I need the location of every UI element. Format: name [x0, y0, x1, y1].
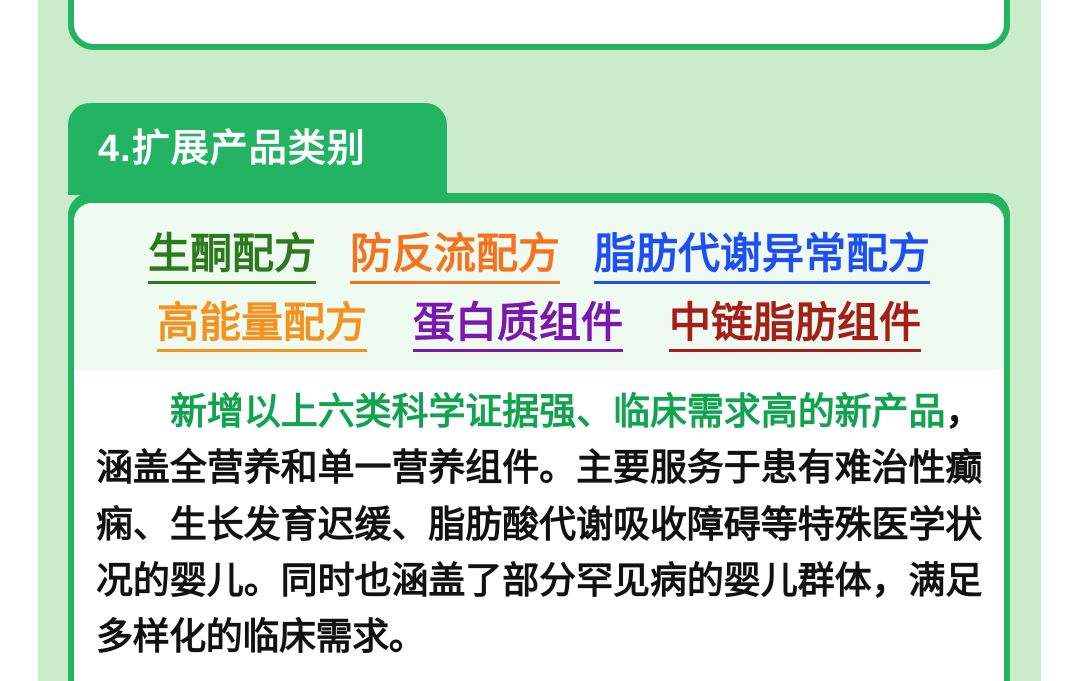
keyword-protein-module[interactable]: 蛋白质组件	[413, 298, 623, 353]
section-description: 新增以上六类科学证据强、临床需求高的新产品，涵盖全营养和单一营养组件。主要服务于…	[74, 370, 1004, 665]
section-tab-title: 4.扩展产品类别	[98, 130, 366, 168]
description-highlight: 新增以上六类科学证据强、临床需求高的新产品	[170, 391, 945, 432]
previous-section-card-fragment	[68, 0, 1010, 50]
keyword-mct-module[interactable]: 中链脂肪组件	[669, 298, 921, 353]
page-root: 4.扩展产品类别 生酮配方 防反流配方 脂肪代谢异常配方 高能量配方 蛋白质组件…	[0, 0, 1080, 681]
keyword-row-1: 生酮配方 防反流配方 脂肪代谢异常配方	[90, 229, 988, 284]
section-card-inner: 生酮配方 防反流配方 脂肪代谢异常配方 高能量配方 蛋白质组件 中链脂肪组件 新…	[74, 203, 1004, 681]
section-tab-header[interactable]: 4.扩展产品类别	[68, 103, 447, 195]
keyword-fat-metabolism-disorder-formula[interactable]: 脂肪代谢异常配方	[594, 229, 930, 284]
keyword-anti-reflux-formula[interactable]: 防反流配方	[350, 229, 560, 284]
section-card: 生酮配方 防反流配方 脂肪代谢异常配方 高能量配方 蛋白质组件 中链脂肪组件 新…	[68, 193, 1010, 681]
section-4-expand-product-categories: 4.扩展产品类别 生酮配方 防反流配方 脂肪代谢异常配方 高能量配方 蛋白质组件…	[68, 103, 1010, 681]
keyword-ketogenic-formula[interactable]: 生酮配方	[148, 229, 316, 284]
keyword-high-energy-formula[interactable]: 高能量配方	[157, 298, 367, 353]
keyword-panel: 生酮配方 防反流配方 脂肪代谢异常配方 高能量配方 蛋白质组件 中链脂肪组件	[74, 203, 1004, 370]
keyword-row-2: 高能量配方 蛋白质组件 中链脂肪组件	[90, 298, 988, 353]
